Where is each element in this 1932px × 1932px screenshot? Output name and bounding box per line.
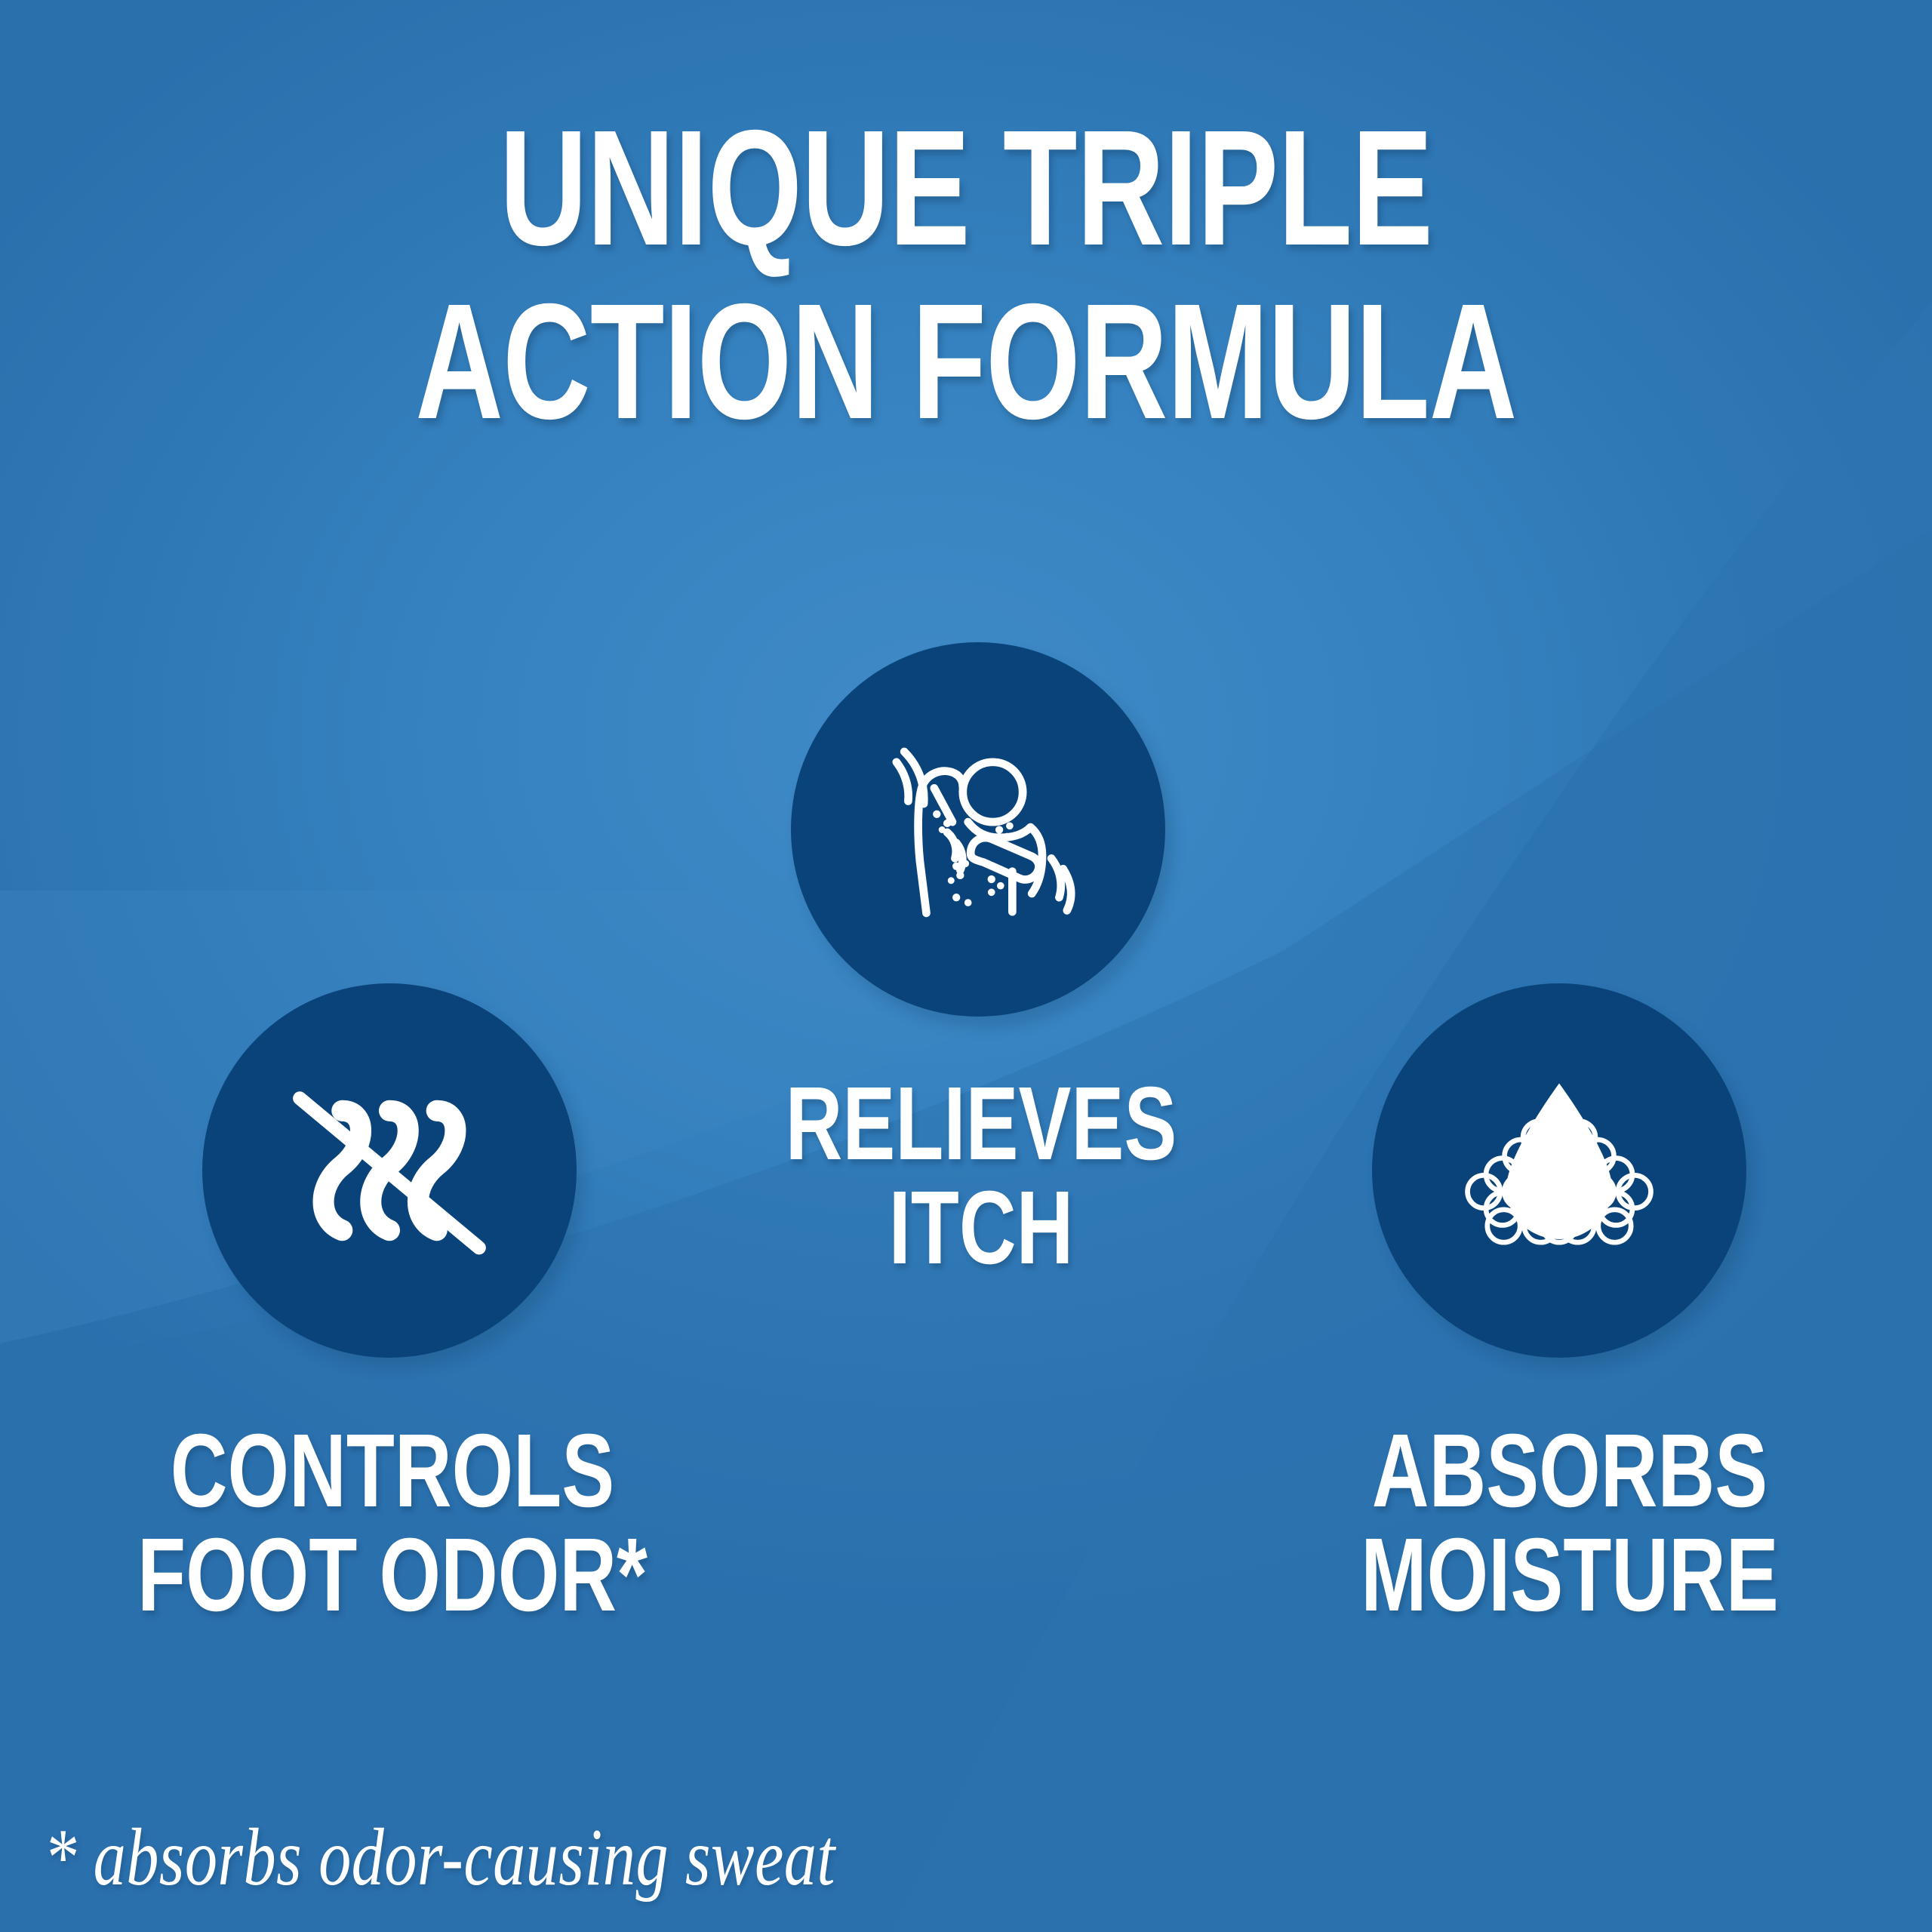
feature-icon-badge-controls-foot-odor (202, 983, 577, 1358)
person-scratching-itch-icon (848, 700, 1109, 960)
feature-label-controls-foot-odor: CONTROLS FOOT ODOR* (23, 1419, 762, 1627)
water-droplet-absorbent-particles-icon (1427, 1038, 1691, 1303)
product-benefits-infographic: UNIQUE TRIPLE ACTION FORMULA (0, 0, 1932, 1932)
feature-label-absorbs-moisture: ABSORBS MOISTURE (1230, 1419, 1909, 1627)
footnote-text: * absorbs odor-causing sweat (44, 1811, 835, 1905)
feature-icon-badge-absorbs-moisture (1372, 983, 1746, 1358)
feature-icon-badge-relieves-itch (791, 642, 1165, 1017)
feature-label-relieves-itch: RELIEVES ITCH (672, 1072, 1291, 1280)
water-droplet (1506, 1084, 1612, 1240)
odor-waves-slashed-icon (265, 1046, 514, 1295)
feature-label-line-2: FOOT ODOR* (112, 1523, 674, 1627)
page-title-line-2: ACTION FORMULA (251, 281, 1681, 443)
page-title-line-1: UNIQUE TRIPLE (251, 108, 1681, 269)
feature-label-line-2: MOISTURE (1312, 1523, 1828, 1627)
feature-label-line-1: ABSORBS (1312, 1419, 1828, 1523)
feature-label-line-1: CONTROLS (112, 1419, 674, 1523)
feature-label-line-2: ITCH (746, 1176, 1216, 1280)
feature-label-line-1: RELIEVES (746, 1072, 1216, 1176)
page-title: UNIQUE TRIPLE ACTION FORMULA (0, 108, 1932, 442)
